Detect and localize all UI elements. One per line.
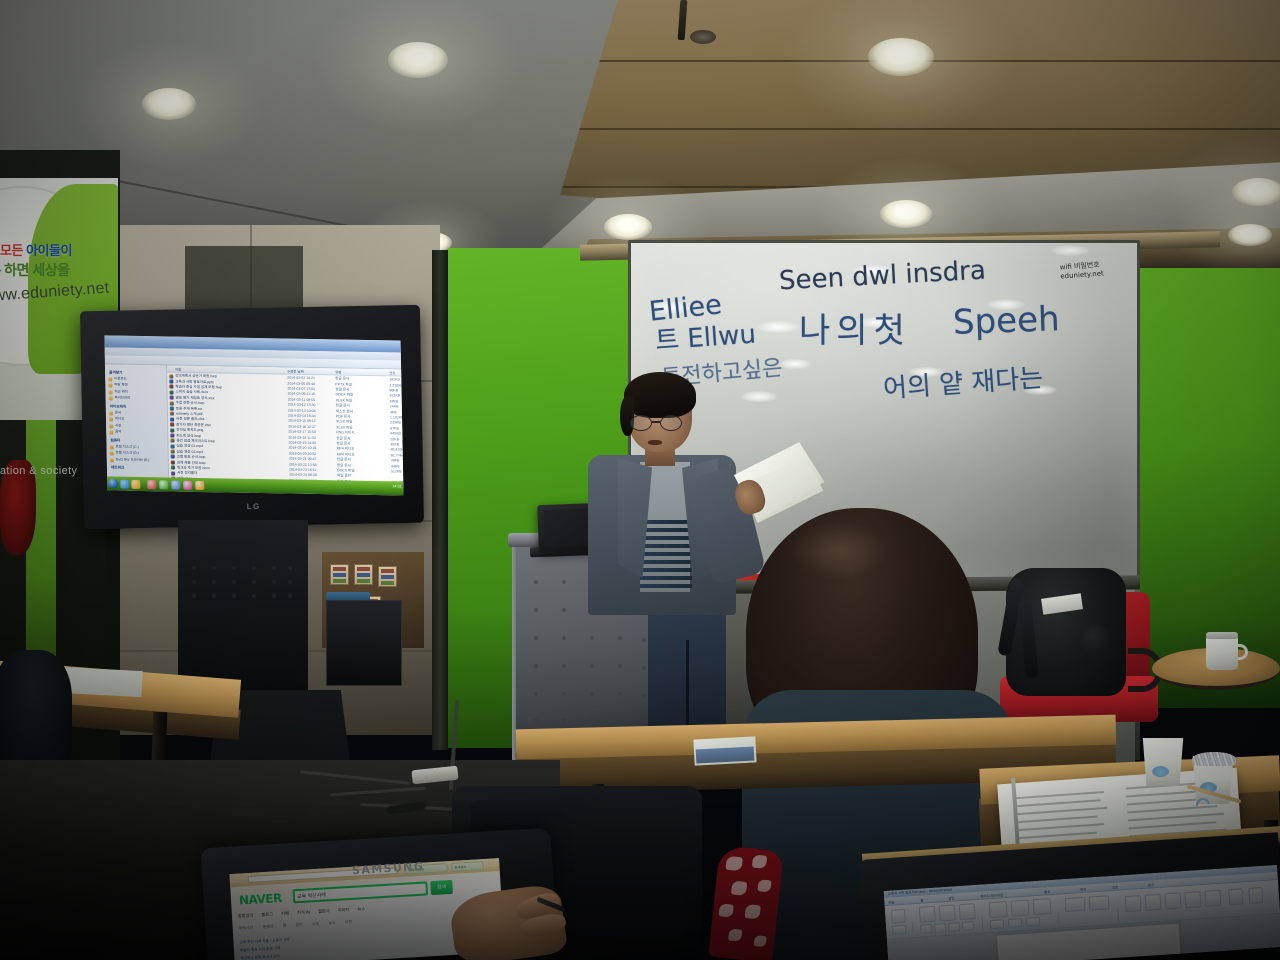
file-date: 2014-03-13 10:08 xyxy=(288,408,316,412)
whiteboard-corner-note: wifi 비밀번호 eduniety.net xyxy=(1059,261,1104,281)
tv-stand-perforation xyxy=(186,562,298,604)
ribbon-button[interactable] xyxy=(920,924,933,934)
nav-item[interactable]: 통합검색 xyxy=(238,913,254,919)
wall-green-accent-right xyxy=(1128,268,1280,708)
subnav-item[interactable]: 어학사전 xyxy=(239,925,254,931)
file-icon xyxy=(170,396,174,400)
file-icon xyxy=(171,444,175,448)
ceiling-downlight xyxy=(388,42,448,78)
banner-kr2-a: 행복 xyxy=(0,262,1,278)
ribbon-button[interactable] xyxy=(1011,900,1030,917)
nav-item[interactable]: 뉴스 xyxy=(357,906,365,911)
taskbar-icon[interactable] xyxy=(171,480,180,489)
tv-stand-neck xyxy=(178,520,308,700)
taskbar-clock[interactable]: 14:32 xyxy=(392,484,401,488)
ceiling-downlight xyxy=(142,88,196,120)
explorer-sidebar[interactable]: 즐겨찾기 다운로드 바탕 화면 최근 위치 라이브러리 라이브러리 문서 비디오… xyxy=(105,364,169,477)
file-icon xyxy=(170,401,174,405)
file-icon xyxy=(171,455,175,459)
file-name: 모니터 연결 테스트.txt xyxy=(177,492,209,495)
taskbar-icon[interactable] xyxy=(195,480,204,489)
file-size: 233KB xyxy=(390,421,401,425)
ribbon-button[interactable] xyxy=(892,925,907,935)
ribbon-button[interactable] xyxy=(934,923,947,933)
file-icon xyxy=(170,433,174,437)
ribbon-tab[interactable]: 파일 xyxy=(888,899,895,904)
file-icon xyxy=(171,493,175,496)
av-equipment-rack xyxy=(326,600,402,686)
file-size: 88,410KB xyxy=(391,448,404,452)
presenter-hair xyxy=(624,372,696,418)
subnav-item[interactable]: 책 xyxy=(282,923,286,928)
subnav-item[interactable]: 음악 xyxy=(295,922,303,927)
subnav-item[interactable]: 동영상 xyxy=(262,924,273,930)
ribbon-button[interactable] xyxy=(1125,895,1142,912)
ribbon-button[interactable] xyxy=(990,919,1005,929)
ribbon-button[interactable] xyxy=(1008,918,1023,928)
subnav-item[interactable]: 쇼핑 xyxy=(312,921,320,926)
mug-lid xyxy=(1206,632,1238,639)
file-date: 2014-03-14 16:44 xyxy=(288,414,316,418)
taskbar-icon[interactable] xyxy=(120,479,129,488)
file-date: 2014-03-22 13:58 xyxy=(289,462,317,466)
file-date: 2014-03-18 11:33 xyxy=(288,435,315,439)
file-date: 2014-03-20 10:19 xyxy=(289,446,317,450)
wall-mounted-tv: 즐겨찾기 다운로드 바탕 화면 최근 위치 라이브러리 라이브러리 문서 비디오… xyxy=(80,305,424,529)
cup-cloud-pattern xyxy=(1152,766,1169,777)
ribbon-tab[interactable]: 검토 xyxy=(1112,884,1119,889)
banner-kr2-c: 세상을 xyxy=(32,262,69,278)
start-button-icon[interactable] xyxy=(108,478,118,488)
ribbon-button[interactable] xyxy=(1026,917,1041,927)
explorer-file-list[interactable]: 이름 수정한 날짜 유형 크기 강의계획서 상반기 최종.hwp2014-03-… xyxy=(167,365,403,481)
banner-kr1-b: 모든 xyxy=(0,243,23,258)
file-icon xyxy=(171,471,175,475)
sidebar-group-header: 네트워크 xyxy=(109,466,166,472)
file-date: 2014-03-21 09:47 xyxy=(289,457,317,461)
ceiling-downlight xyxy=(604,214,652,240)
ribbon-button[interactable] xyxy=(919,906,936,923)
tv-screen[interactable]: 즐겨찾기 다운로드 바탕 화면 최근 위치 라이브러리 라이브러리 문서 비디오… xyxy=(104,335,403,495)
file-date: 2014-03-07 17:02 xyxy=(287,387,315,391)
file-date: 2014-03-19 14:05 xyxy=(288,441,316,445)
file-size: 1,102KB xyxy=(390,415,404,419)
taskbar-icon[interactable] xyxy=(159,480,168,489)
file-date: 2014-03-24 08:30 xyxy=(289,473,317,477)
col-type[interactable]: 유형 xyxy=(335,369,341,374)
file-icon xyxy=(169,385,173,389)
ribbon-button[interactable] xyxy=(1204,890,1221,907)
ribbon-button[interactable] xyxy=(1089,895,1110,910)
file-size: 52KB xyxy=(390,437,399,441)
ribbon-button[interactable] xyxy=(891,909,906,924)
file-icon xyxy=(171,450,175,454)
ribbon-button[interactable] xyxy=(1145,894,1162,911)
ribbon-button[interactable] xyxy=(1033,898,1052,915)
ribbon-button[interactable] xyxy=(959,903,976,920)
file-date: 2014-03-05 09:40 xyxy=(287,381,315,385)
ribbon-button[interactable] xyxy=(1164,892,1181,909)
file-size: 4KB xyxy=(390,410,397,414)
file-date: 2014-03-02 14:21 xyxy=(287,376,315,380)
file-size: 74KB xyxy=(390,405,399,409)
white-mug[interactable] xyxy=(1206,636,1238,670)
banner-subtitle: cation & society xyxy=(0,465,77,477)
file-icon xyxy=(170,417,174,421)
ribbon-tab[interactable]: 홈 xyxy=(920,897,923,902)
classroom-scene: 삶의 모든 아이들이 행복 하면 세상을 www.eduniety.net ca… xyxy=(0,0,1280,960)
file-size: 61KB xyxy=(391,442,400,446)
col-date[interactable]: 수정한 날짜 xyxy=(287,369,304,374)
red-floral-bag[interactable] xyxy=(708,845,783,960)
whiteboard-line-left-2: 트 Ellwu xyxy=(654,314,757,358)
tv-brand-logo: LG xyxy=(247,502,261,511)
ribbon-button[interactable] xyxy=(962,921,975,931)
ribbon-button[interactable] xyxy=(939,904,956,921)
ribbon-button[interactable] xyxy=(1228,888,1243,905)
ribbon-tab[interactable]: 편지 xyxy=(1080,886,1087,891)
sidebar-item[interactable]: 라이브러리 xyxy=(108,395,165,402)
ceiling-downlight xyxy=(1232,178,1280,206)
file-size: 845KB xyxy=(390,432,401,436)
ribbon-button[interactable] xyxy=(948,922,961,932)
ceiling-vent-icon xyxy=(690,30,716,44)
file-date: 2014-03-15 09:12 xyxy=(288,419,316,423)
file-size: 182KB xyxy=(389,378,400,382)
file-date: 2014-03-12 13:30 xyxy=(288,403,316,407)
naver-results[interactable]: 교육 혁신 사례 모음 - 교육과 사회 학습자 중심 수업 운영 사례 혁신학… xyxy=(239,937,290,960)
whiteboard-line-mid-korean: 나의첫 xyxy=(799,303,911,352)
file-date: 2014-03-09 11:15 xyxy=(288,392,315,396)
file-icon xyxy=(169,374,173,378)
file-date: 2014-03-16 12:27 xyxy=(288,424,316,428)
file-size: 67KB xyxy=(390,426,399,430)
file-size: 58KB xyxy=(390,399,399,403)
file-date: 2014-03-28 10:02 xyxy=(289,494,317,495)
file-icon xyxy=(170,428,174,432)
file-icon xyxy=(169,390,173,394)
browser-tab[interactable]: 검색결과 xyxy=(451,861,483,872)
ribbon-button[interactable] xyxy=(989,901,1008,918)
nav-item[interactable]: 웹문서 xyxy=(318,908,330,914)
nav-item[interactable]: 지식 iN xyxy=(297,909,310,915)
file-icon xyxy=(171,460,175,464)
ribbon-button[interactable] xyxy=(1065,897,1086,912)
subnav-item[interactable]: 뉴스 xyxy=(328,920,336,925)
whiteboard-line-right-en: Speeh xyxy=(952,299,1060,343)
taskbar-icon[interactable] xyxy=(131,479,140,488)
presenter-shirt-stripes xyxy=(640,520,692,605)
cup-foil-contents xyxy=(1192,752,1236,766)
ribbon-tab[interactable]: 보기 xyxy=(1148,882,1155,887)
nav-item[interactable]: 카페 xyxy=(281,911,289,916)
sidebar-item[interactable]: DVD RW 드라이브 (E:) xyxy=(109,456,166,463)
banner-kr2-b: 하면 xyxy=(4,262,29,278)
banner-korean-line2: 행복 하면 세상을 xyxy=(0,260,118,280)
file-icon xyxy=(170,439,174,443)
file-size: 92,774KB xyxy=(391,453,404,457)
file-size: 512KB xyxy=(391,469,402,473)
naver-logo: NAVER xyxy=(239,891,283,908)
nav-item[interactable]: 이미지 xyxy=(338,907,350,913)
ribbon-tab[interactable]: 참조 xyxy=(1044,889,1051,894)
sidebar-item[interactable]: 음악 xyxy=(108,429,165,436)
ribbon-tab[interactable]: 삽입 xyxy=(948,895,955,900)
col-size[interactable]: 크기 xyxy=(389,370,395,375)
ribbon-button[interactable] xyxy=(1248,887,1263,904)
attendee-hair-highlight xyxy=(790,520,890,580)
file-icon xyxy=(169,379,173,383)
ribbon-tab[interactable]: 페이지 레이아웃 xyxy=(980,892,1003,898)
file-icon xyxy=(171,466,175,470)
file-size: 3,210KB xyxy=(389,383,403,387)
file-icon xyxy=(170,423,174,427)
file-date: 2014-03-11 08:55 xyxy=(288,397,315,401)
wall-mullion xyxy=(432,250,448,750)
subnav-item[interactable]: 사전 xyxy=(345,919,353,924)
file-size: 421KB xyxy=(390,394,401,398)
file-size: 44KB xyxy=(391,464,400,468)
file-icon xyxy=(170,406,174,410)
col-name[interactable]: 이름 xyxy=(175,367,181,372)
explorer-rows[interactable]: 강의계획서 상반기 최종.hwp2014-03-02 14:21한글 문서182… xyxy=(167,373,403,481)
banner-kr1-c: 아이들이 xyxy=(26,243,72,258)
paper-cup[interactable] xyxy=(1140,738,1186,786)
naver-search-button[interactable]: 검색 xyxy=(430,880,453,895)
banner-green-stripe xyxy=(26,420,56,680)
taskbar-icon[interactable] xyxy=(147,480,156,489)
glasses-icon xyxy=(630,415,690,431)
banner-korean-line1: 삶의 모든 아이들이 xyxy=(0,240,114,259)
file-size: 96KB xyxy=(389,388,398,392)
ribbon-button[interactable] xyxy=(1184,891,1201,908)
presenter-mouth xyxy=(648,440,662,445)
ceiling-downlight xyxy=(1228,224,1272,246)
file-icon xyxy=(170,412,174,416)
backpack-pocket xyxy=(1078,624,1112,658)
taskbar-icon[interactable] xyxy=(183,480,192,489)
ceiling-downlight xyxy=(868,38,934,76)
left-attendee xyxy=(0,650,72,770)
file-size: 39KB xyxy=(391,458,400,462)
ceiling-downlight xyxy=(880,200,932,228)
nav-item[interactable]: 블로그 xyxy=(261,912,273,918)
file-date: 2014-03-17 15:50 xyxy=(288,430,316,434)
file-date: 2014-03-23 16:11 xyxy=(289,467,316,471)
file-date: 2014-03-20 10:52 xyxy=(289,451,317,455)
